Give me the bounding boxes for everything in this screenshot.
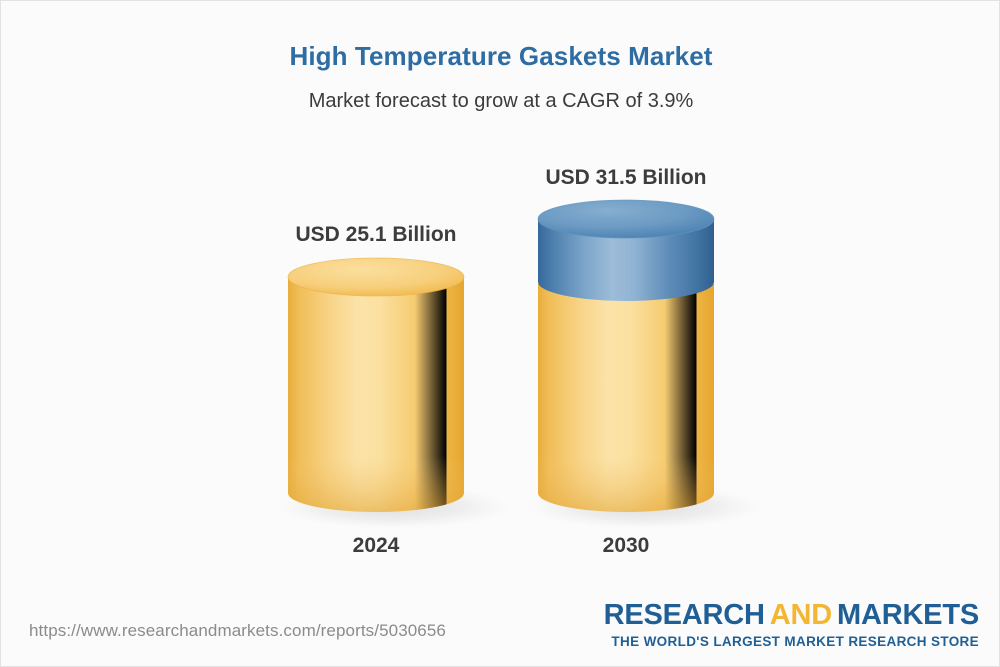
data-label-2024: USD 25.1 Billion — [288, 223, 464, 247]
category-label-2030: 2030 — [538, 534, 714, 558]
brand-logo-tagline: THE WORLD'S LARGEST MARKET RESEARCH STOR… — [604, 635, 979, 649]
cylinder-chart — [1, 1, 1000, 667]
data-label-2030: USD 31.5 Billion — [538, 166, 714, 190]
brand-logo-research: RESEARCH — [604, 599, 765, 631]
brand-logo-wordmark: RESEARCHANDMARKETS — [604, 601, 979, 630]
report-url[interactable]: https://www.researchandmarkets.com/repor… — [29, 621, 446, 641]
brand-logo[interactable]: RESEARCHANDMARKETS THE WORLD'S LARGEST M… — [604, 601, 979, 649]
brand-logo-markets: MARKETS — [837, 599, 979, 631]
cylinder-2024[interactable] — [288, 258, 464, 512]
brand-logo-and: AND — [770, 599, 832, 631]
cylinder-2030[interactable] — [538, 200, 714, 512]
chart-card: High Temperature Gaskets Market Market f… — [0, 0, 1000, 667]
category-label-2024: 2024 — [288, 534, 464, 558]
